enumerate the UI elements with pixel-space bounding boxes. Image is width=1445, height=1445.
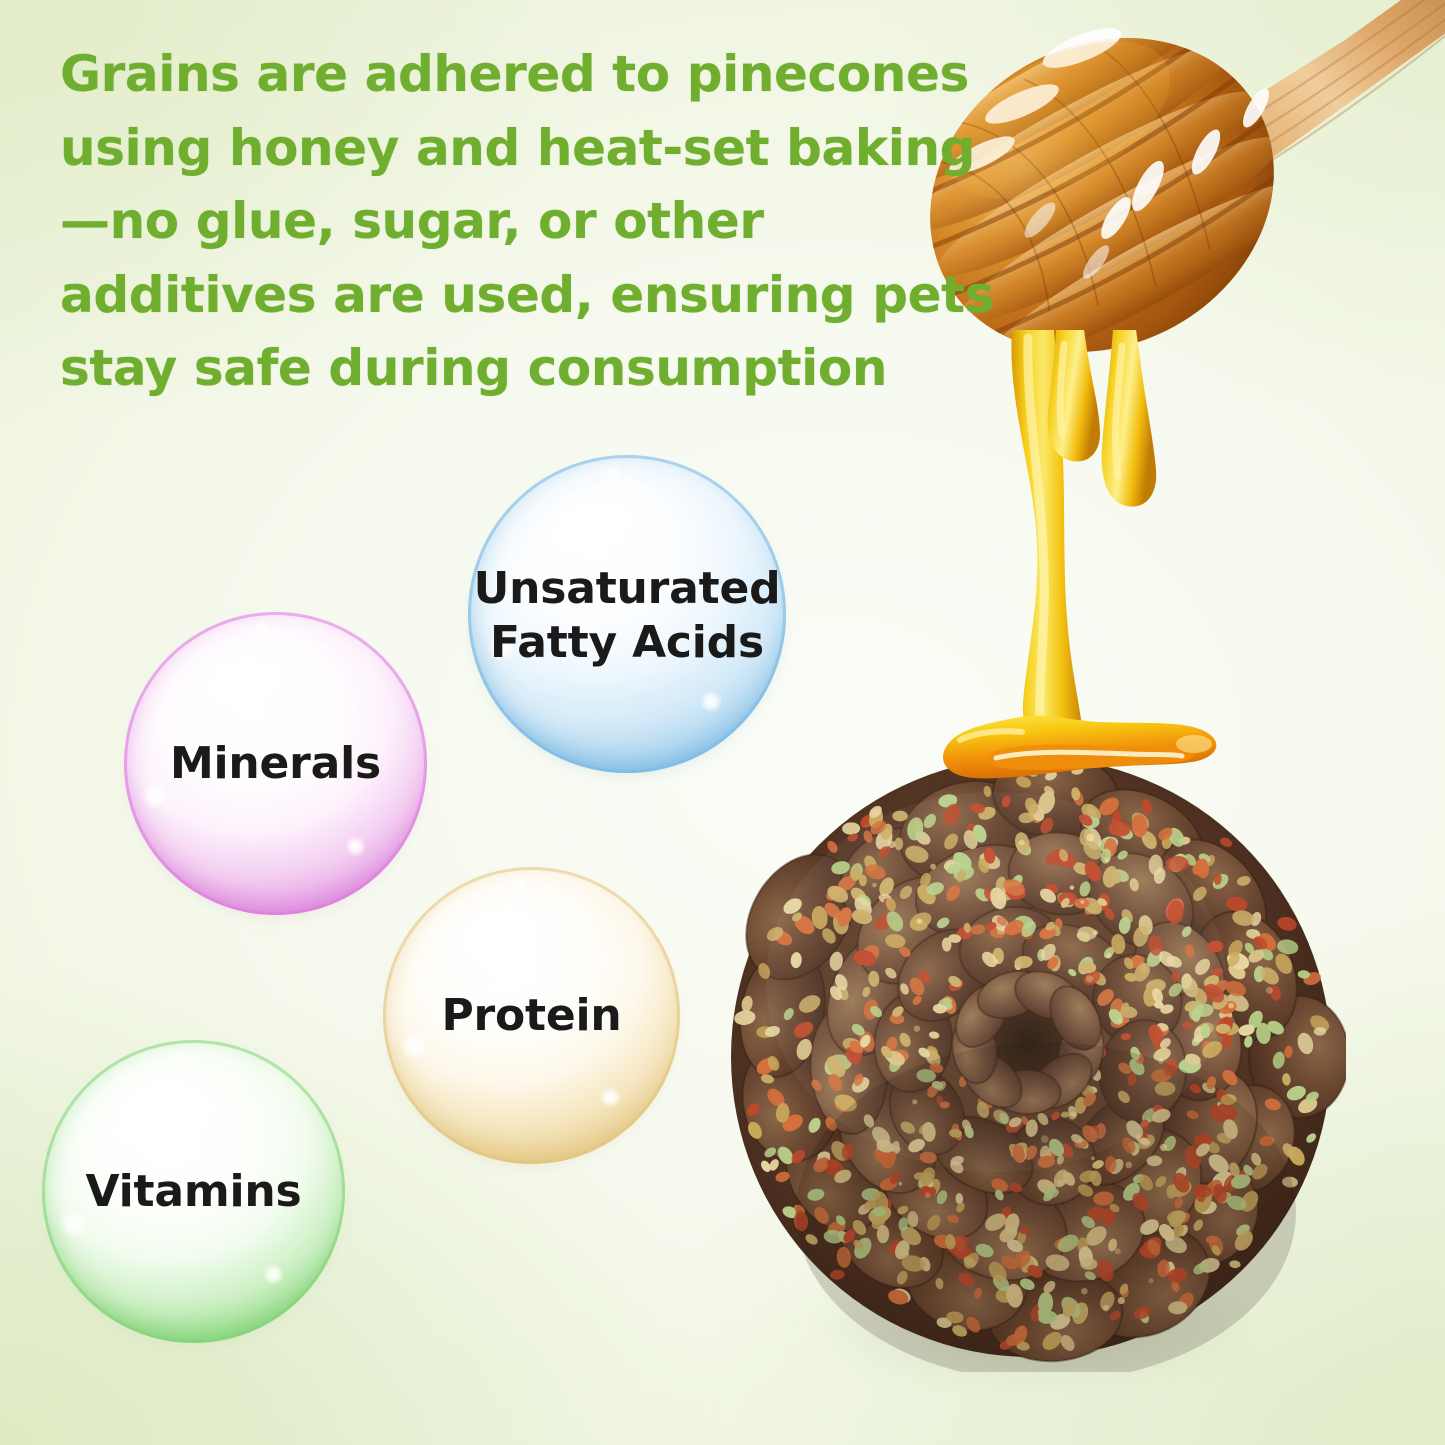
bubble-label-line-2: Fatty Acids [474, 616, 781, 670]
headline-line-5: stay safe during consumption [60, 332, 890, 406]
bubble-sparkle [401, 1033, 428, 1060]
page-title: Grains are adhered to pinecones using ho… [60, 38, 890, 406]
headline-line-2: using honey and heat-set baking [60, 112, 890, 186]
bubble-label-fatty-acids: UnsaturatedFatty Acids [466, 562, 789, 669]
honey-speck [1228, 1003, 1234, 1009]
product-infographic: Grains are adhered to pinecones using ho… [0, 0, 1445, 1445]
bubble-label-minerals: Minerals [162, 737, 389, 791]
headline-line-1: Grains are adhered to pinecones [60, 38, 890, 112]
pinecone-treat-image [716, 742, 1346, 1372]
headline-line-4: additives are used, ensuring pets [60, 259, 890, 333]
nutrient-bubble-minerals: Minerals [124, 612, 427, 915]
bubble-label-line-1: Unsaturated [474, 562, 781, 616]
nutrient-bubble-protein: Protein [383, 867, 680, 1164]
bubble-label-vitamins: Vitamins [78, 1165, 310, 1219]
bubble-label-protein: Protein [433, 989, 629, 1043]
honey-speck [1266, 987, 1273, 994]
headline-line-3: —no glue, sugar, or other [60, 185, 890, 259]
nutrient-bubble-fatty-acids: UnsaturatedFatty Acids [468, 455, 786, 773]
bubble-sparkle [605, 465, 621, 481]
bubble-sparkle [700, 690, 722, 712]
honey-drip-image [930, 330, 1250, 800]
nutrient-bubble-vitamins: Vitamins [42, 1040, 345, 1343]
bubble-sparkle [600, 1087, 621, 1108]
bubble-sparkle [511, 876, 526, 891]
